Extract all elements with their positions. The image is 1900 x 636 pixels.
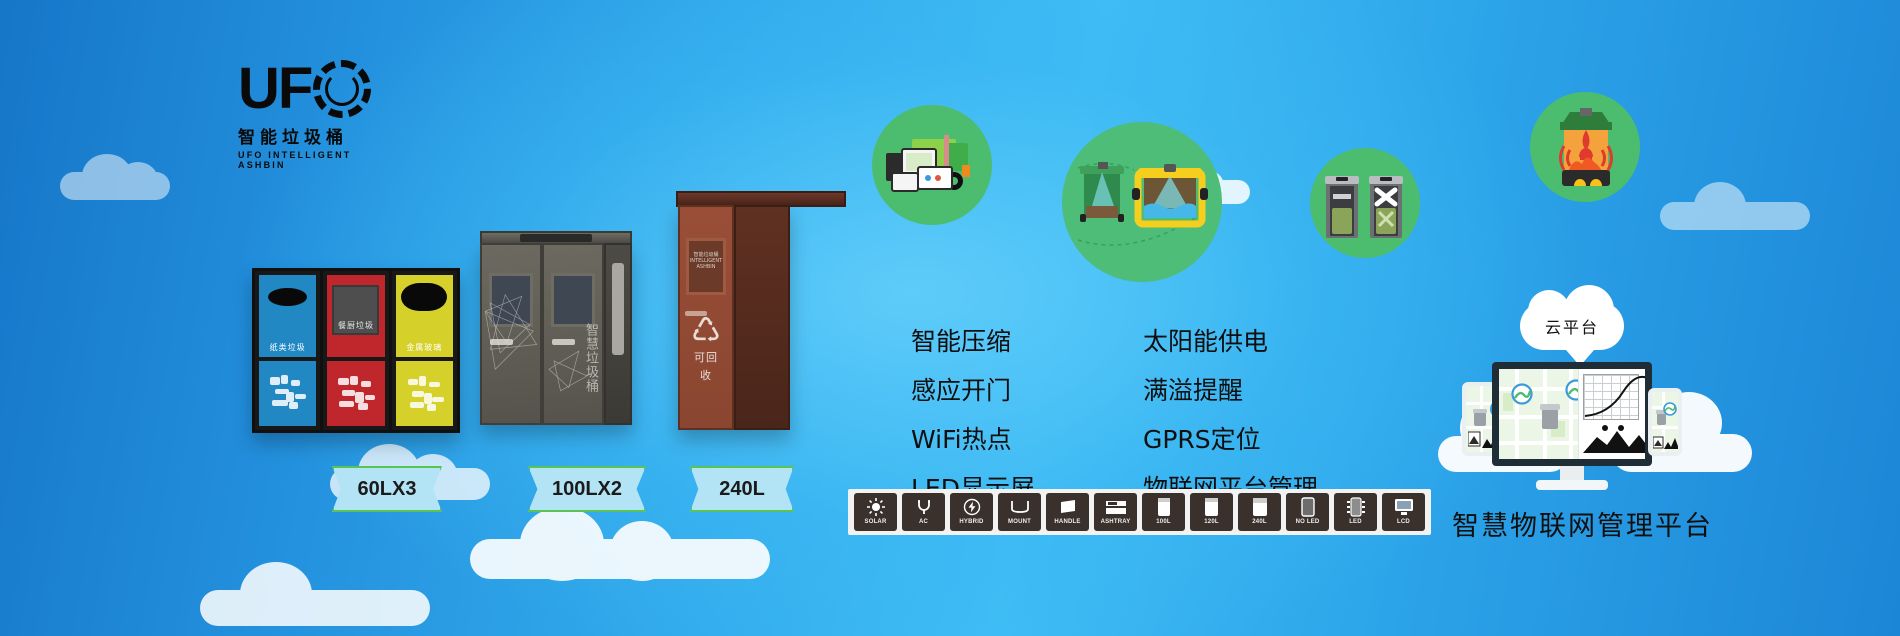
feature-label: WiFi热点 <box>911 420 1012 456</box>
spec-chip-label: 100L <box>1156 518 1170 526</box>
bin-door-left <box>480 243 542 425</box>
feature-item: 太阳能供电 <box>1107 322 1318 358</box>
three-compartment-bin: 纸类垃圾 餐厨垃圾 <box>252 268 460 433</box>
hybrid-power-icon <box>963 496 981 518</box>
cloud-decoration <box>200 560 460 630</box>
fleet-dispatch-circle <box>872 105 992 225</box>
spec-chip-handle[interactable]: HANDLE <box>1046 493 1089 531</box>
capacity-badge-100lx2: 100LX2 <box>528 466 646 512</box>
monitor-bullet-icon <box>1107 331 1129 349</box>
platform-title: 智慧物联网管理平台 <box>1452 504 1713 543</box>
cloud-decoration <box>1660 180 1840 234</box>
spec-chip-hybrid[interactable]: HYBRID <box>950 493 993 531</box>
area-chart <box>1583 423 1652 453</box>
spec-chip-led[interactable]: LED <box>1334 493 1377 531</box>
status-bubble-icon <box>1663 402 1677 416</box>
fill-level-sensor-icon <box>1076 162 1208 246</box>
cloud-decoration <box>470 505 800 585</box>
fill-level-circle <box>1062 122 1222 282</box>
bin-compartment-kitchen: 餐厨垃圾 <box>323 271 391 430</box>
bin-120l-icon <box>1204 496 1219 518</box>
compartment-label: 餐厨垃圾 <box>338 320 374 331</box>
spec-icon-strip: SOLAR AC HYBRID MOUNT HAND <box>848 489 1431 535</box>
feature-item: WiFi热点 <box>875 420 1035 456</box>
polygon-pattern <box>544 245 602 394</box>
compartment-body <box>259 361 316 426</box>
logo-wordmark: UF <box>238 60 311 118</box>
monitor-bullet-icon <box>875 380 897 398</box>
feature-label: 感应开门 <box>911 371 1011 407</box>
feature-label: 满溢提醒 <box>1143 371 1243 407</box>
fire-alarm-circle <box>1530 92 1640 202</box>
bin-compartment-paper: 纸类垃圾 <box>255 271 323 430</box>
feature-item: 智能压缩 <box>875 322 1035 358</box>
mini-chart-icon <box>1653 435 1682 451</box>
feature-label: 太阳能供电 <box>1143 322 1268 358</box>
bin-marker-icon <box>1539 403 1561 431</box>
litter-graphic <box>266 372 310 414</box>
spec-chip-label: AC <box>919 518 928 526</box>
spec-chip-label: MOUNT <box>1008 518 1031 526</box>
spec-chip-lcd[interactable]: LCD <box>1382 493 1425 531</box>
analytics-panel <box>1578 369 1645 459</box>
ashtray-icon <box>1105 496 1127 518</box>
bin-100l-icon <box>1157 496 1171 518</box>
spec-chip-label: HANDLE <box>1054 518 1080 526</box>
bin-front: 智能垃圾桶 INTELLIGENT ASHBIN ♺ 可回收 <box>678 205 734 430</box>
cloud-platform-tag: 云平台 <box>1520 302 1624 350</box>
handle-icon <box>1058 496 1078 518</box>
monitor-bullet-icon <box>1107 380 1129 398</box>
product-banner: UF 智能垃圾桶 UFO INTELLIGENT ASHBIN 纸类垃圾 <box>0 0 1900 636</box>
feature-column-right: 太阳能供电 满溢提醒 GPRS定位 物联网平台管理 <box>1107 322 1318 505</box>
spec-chip-240l[interactable]: 240L <box>1238 493 1281 531</box>
feature-item: 满溢提醒 <box>1107 371 1318 407</box>
fire-alarm-icon <box>1550 108 1622 190</box>
smartphone-device <box>1648 388 1682 456</box>
feature-item: 感应开门 <box>875 371 1035 407</box>
oval-slot-icon <box>268 288 307 306</box>
feature-label: 智能压缩 <box>911 322 1011 358</box>
feature-list: 智能压缩 感应开门 WiFi热点 LED显示屏 太阳能供电 满溢提醒 <box>875 322 1318 505</box>
compartment-top: 金属玻璃 <box>396 275 453 357</box>
lcd-icon <box>1394 496 1414 518</box>
recycle-marking: ♺ 可回收 <box>691 314 721 384</box>
litter-graphic <box>403 372 447 414</box>
bin-side-panel <box>734 205 790 430</box>
compaction-icon <box>1324 174 1406 240</box>
bin-marker-icon <box>1472 408 1488 428</box>
logo-chinese-name: 智能垃圾桶 <box>238 123 378 148</box>
trend-line <box>1583 374 1652 420</box>
bin-side-panel <box>604 243 632 425</box>
spec-chip-ashtray[interactable]: ASHTRAY <box>1094 493 1137 531</box>
spec-chip-label: LCD <box>1397 518 1410 526</box>
recycle-label: 可回收 <box>694 351 718 382</box>
spec-chip-100l[interactable]: 100L <box>1142 493 1185 531</box>
logo-mark: UF <box>238 58 378 120</box>
spec-chip-no-led[interactable]: NO LED <box>1286 493 1329 531</box>
ufo-ring-icon <box>313 60 371 118</box>
led-icon <box>1347 496 1365 518</box>
feature-column-left: 智能压缩 感应开门 WiFi热点 LED显示屏 <box>875 322 1035 505</box>
compaction-circle <box>1310 148 1420 258</box>
recycle-icon: ♺ <box>691 312 721 350</box>
compartment-label: 纸类垃圾 <box>270 342 306 353</box>
power-plug-icon <box>915 496 933 518</box>
compartment-top: 纸类垃圾 <box>259 275 316 357</box>
bin-240l-icon <box>1252 496 1268 518</box>
monitor-bullet-icon <box>1107 429 1129 447</box>
spec-chip-label: 120L <box>1204 518 1218 526</box>
feature-label: GPRS定位 <box>1143 420 1261 456</box>
sun-icon <box>867 496 885 518</box>
logo-english-name: UFO INTELLIGENT ASHBIN <box>238 150 378 170</box>
spec-chip-label: 240L <box>1252 518 1266 526</box>
monitor-bullet-icon <box>875 331 897 349</box>
cloud-platform-label: 云平台 <box>1520 302 1624 350</box>
monitor-bullet-icon <box>875 429 897 447</box>
round-slot-icon <box>401 283 447 311</box>
capacity-badge-240l: 240L <box>690 466 794 512</box>
monitor-base <box>1536 480 1608 490</box>
fleet-dispatch-icon <box>884 131 980 203</box>
wall-mount-icon <box>1010 496 1030 518</box>
capacity-badge-60lx3: 60LX3 <box>332 466 442 512</box>
spec-chip-ac[interactable]: AC <box>902 493 945 531</box>
smart-double-bin: 智慧垃圾桶 <box>480 243 632 425</box>
compartment-body <box>327 361 384 426</box>
feature-item: GPRS定位 <box>1107 420 1318 456</box>
cloud-decoration <box>60 150 220 210</box>
compartment-label: 金属玻璃 <box>406 342 442 353</box>
spec-chip-label: LED <box>1349 518 1362 526</box>
spec-chip-label: NO LED <box>1296 518 1320 526</box>
brand-logo: UF 智能垃圾桶 UFO INTELLIGENT ASHBIN <box>238 58 378 170</box>
spec-chip-label: ASHTRAY <box>1101 518 1131 526</box>
spec-chip-label: SOLAR <box>865 518 887 526</box>
compartment-top: 餐厨垃圾 <box>327 275 384 357</box>
spec-chip-solar[interactable]: SOLAR <box>854 493 897 531</box>
iot-dashboard-illustration <box>1462 362 1682 498</box>
bin-compartment-metal-glass: 金属玻璃 <box>392 271 457 430</box>
litter-graphic <box>334 372 378 414</box>
status-bubble-icon <box>1511 383 1533 405</box>
display-window: 智能垃圾桶 INTELLIGENT ASHBIN <box>686 238 726 295</box>
brown-recycling-bin: 智能垃圾桶 INTELLIGENT ASHBIN ♺ 可回收 <box>678 205 790 430</box>
bin-door-right: 智慧垃圾桶 <box>542 243 604 425</box>
compartment-body <box>396 361 453 426</box>
polygon-pattern <box>482 245 540 394</box>
spec-chip-label: HYBRID <box>959 518 983 526</box>
spec-chip-120l[interactable]: 120L <box>1190 493 1233 531</box>
no-led-icon <box>1300 496 1316 518</box>
spec-chip-mount[interactable]: MOUNT <box>998 493 1041 531</box>
desktop-monitor <box>1492 362 1652 466</box>
